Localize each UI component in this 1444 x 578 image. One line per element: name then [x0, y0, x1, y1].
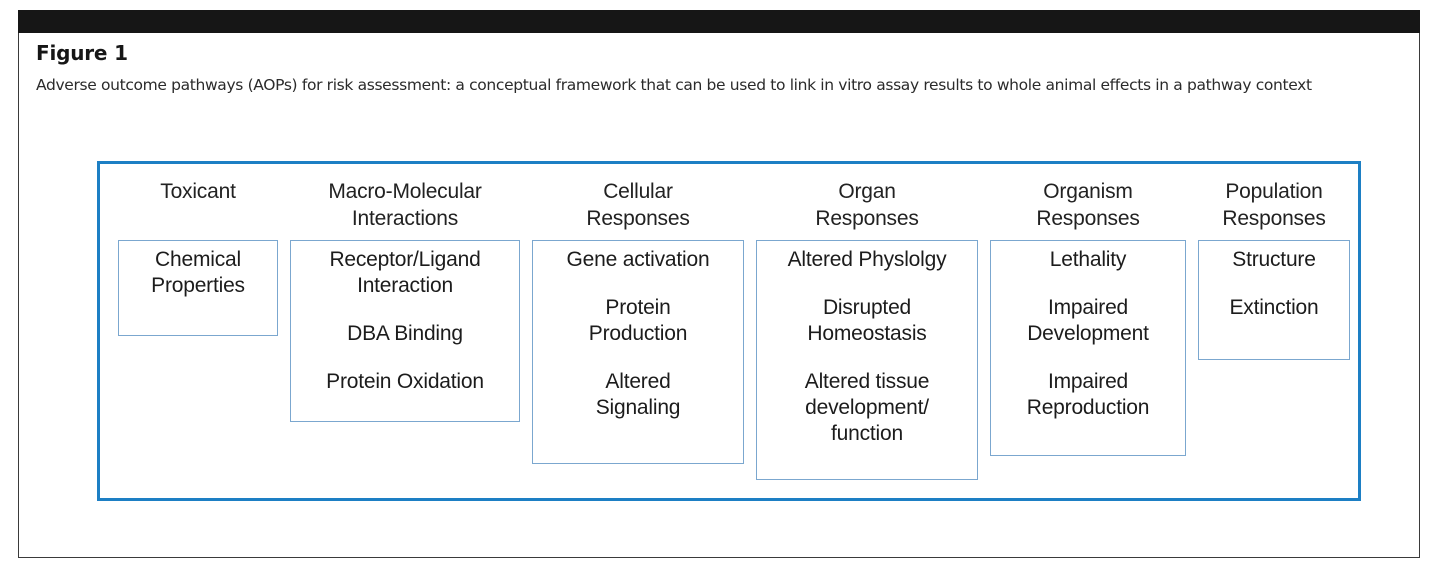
aop-item: Lethality — [991, 247, 1185, 273]
column-header-organism-responses: Organism Responses — [990, 178, 1186, 232]
column-header-organ-responses: Organ Responses — [756, 178, 978, 232]
figure-top-bar — [18, 10, 1420, 33]
figure-card: Figure 1 Adverse outcome pathways (AOPs)… — [18, 10, 1420, 558]
aop-item: Protein Production — [533, 295, 743, 347]
aop-column-macro-molecular-interactions: Macro-Molecular InteractionsReceptor/Lig… — [290, 164, 520, 498]
column-box-organ-responses: Altered PhyslolgyDisrupted HomeostasisAl… — [756, 240, 978, 480]
column-box-toxicant: Chemical Properties — [118, 240, 278, 336]
column-box-organism-responses: LethalityImpaired DevelopmentImpaired Re… — [990, 240, 1186, 456]
aop-item: Impaired Development — [991, 295, 1185, 347]
aop-item: Disrupted Homeostasis — [757, 295, 977, 347]
aop-item: DBA Binding — [291, 321, 519, 347]
aop-column-organ-responses: Organ ResponsesAltered PhyslolgyDisrupte… — [756, 164, 978, 498]
aop-item: Protein Oxidation — [291, 369, 519, 395]
aop-item: Impaired Reproduction — [991, 369, 1185, 421]
aop-item: Altered Signaling — [533, 369, 743, 421]
aop-column-population-responses: Population ResponsesStructureExtinction — [1198, 164, 1350, 498]
column-header-population-responses: Population Responses — [1198, 178, 1350, 232]
aop-diagram: ToxicantChemical PropertiesMacro-Molecul… — [97, 161, 1361, 501]
column-header-toxicant: Toxicant — [118, 178, 278, 205]
column-box-cellular-responses: Gene activationProtein ProductionAltered… — [532, 240, 744, 464]
column-box-macro-molecular-interactions: Receptor/Ligand InteractionDBA BindingPr… — [290, 240, 520, 422]
aop-item: Extinction — [1199, 295, 1349, 321]
aop-column-cellular-responses: Cellular ResponsesGene activationProtein… — [532, 164, 744, 498]
aop-item: Chemical Properties — [119, 247, 277, 299]
aop-column-organism-responses: Organism ResponsesLethalityImpaired Deve… — [990, 164, 1186, 498]
column-box-population-responses: StructureExtinction — [1198, 240, 1350, 360]
aop-item: Gene activation — [533, 247, 743, 273]
figure-caption-text: Adverse outcome pathways (AOPs) for risk… — [36, 75, 1396, 96]
aop-item: Altered tissue development/ function — [757, 369, 977, 447]
aop-item: Receptor/Ligand Interaction — [291, 247, 519, 299]
column-header-macro-molecular-interactions: Macro-Molecular Interactions — [290, 178, 520, 232]
aop-item: Altered Physlolgy — [757, 247, 977, 273]
aop-item: Structure — [1199, 247, 1349, 273]
column-header-cellular-responses: Cellular Responses — [532, 178, 744, 232]
figure-caption-block: Figure 1 Adverse outcome pathways (AOPs)… — [36, 41, 1396, 96]
figure-label: Figure 1 — [36, 41, 1396, 65]
aop-column-toxicant: ToxicantChemical Properties — [118, 164, 278, 498]
